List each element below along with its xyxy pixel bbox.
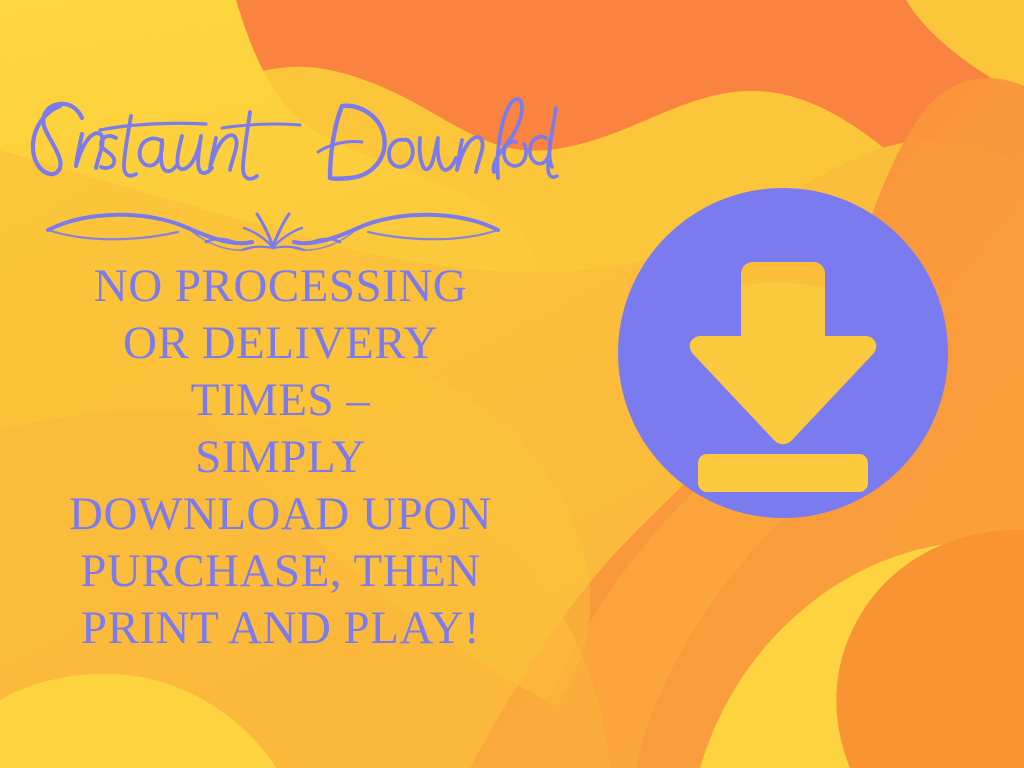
- promo-graphic-canvas: Instant Download: [0, 0, 1024, 768]
- body-text: NO PROCESSING OR DELIVERY TIMES – SIMPLY…: [8, 258, 553, 657]
- ornamental-divider: [38, 198, 508, 264]
- page-title: Instant Download: [0, 82, 560, 192]
- download-base-bar: [698, 454, 868, 492]
- download-badge[interactable]: [618, 188, 948, 518]
- download-icon[interactable]: [618, 188, 948, 518]
- text-column: Instant Download: [0, 0, 560, 768]
- ornamental-flourish-divider-icon: [38, 198, 508, 264]
- script-title-lettering: Instant Download: [0, 82, 560, 192]
